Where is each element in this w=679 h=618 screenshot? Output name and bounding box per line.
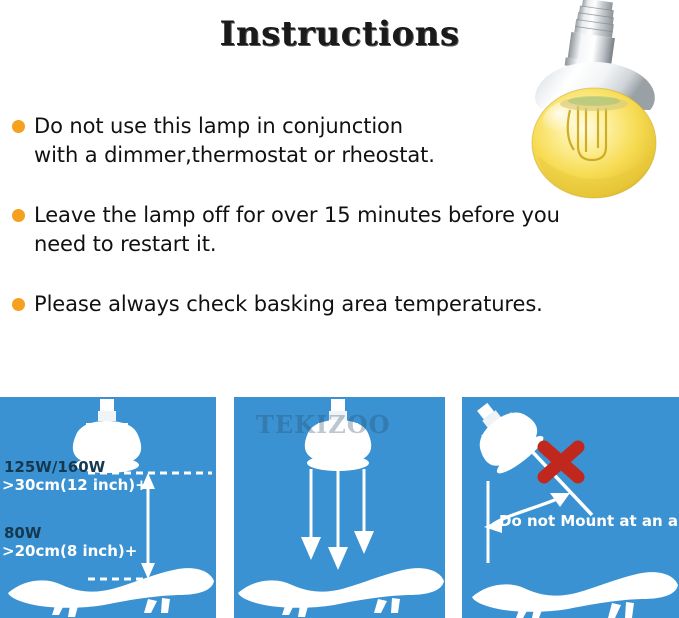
bullet-dot-icon xyxy=(12,120,25,133)
label-distance-high: >30cm(12 inch)+ xyxy=(2,476,148,494)
product-bulb-photo xyxy=(508,0,678,206)
label-wattage-high: 125W/160W xyxy=(4,458,105,476)
list-item: Do not use this lamp in conjunction with… xyxy=(12,112,532,171)
lizard-silhouette xyxy=(238,568,444,617)
label-distance-low: >20cm(8 inch)+ xyxy=(2,542,137,560)
diagram-panels: TEKIZOO xyxy=(0,397,679,618)
label-do-not-mount-at-angle: Do not Mount at an angle xyxy=(499,512,679,530)
panel-no-angle xyxy=(462,397,679,618)
panel-distance xyxy=(0,397,216,618)
panel-heat-direction: TEKIZOO xyxy=(234,397,445,618)
instruction-text-cooldown: Leave the lamp off for over 15 minutes b… xyxy=(34,201,560,260)
list-item: Please always check basking area tempera… xyxy=(12,290,672,319)
instruction-list: Do not use this lamp in conjunction with… xyxy=(12,112,532,341)
instruction-text-no-dimmer: Do not use this lamp in conjunction with… xyxy=(34,112,435,171)
watermark-tekizoo: TEKIZOO xyxy=(256,410,391,439)
heat-arrows xyxy=(301,469,374,570)
label-wattage-low: 80W xyxy=(4,524,41,542)
lizard-silhouette xyxy=(472,572,678,618)
red-x-icon xyxy=(544,447,578,477)
instruction-text-check-temps: Please always check basking area tempera… xyxy=(34,290,543,319)
bullet-dot-icon xyxy=(12,298,25,311)
lizard-silhouette xyxy=(8,568,214,617)
bulb-icon-tilted xyxy=(462,397,549,479)
list-item: Leave the lamp off for over 15 minutes b… xyxy=(12,201,672,260)
bullet-dot-icon xyxy=(12,209,25,222)
